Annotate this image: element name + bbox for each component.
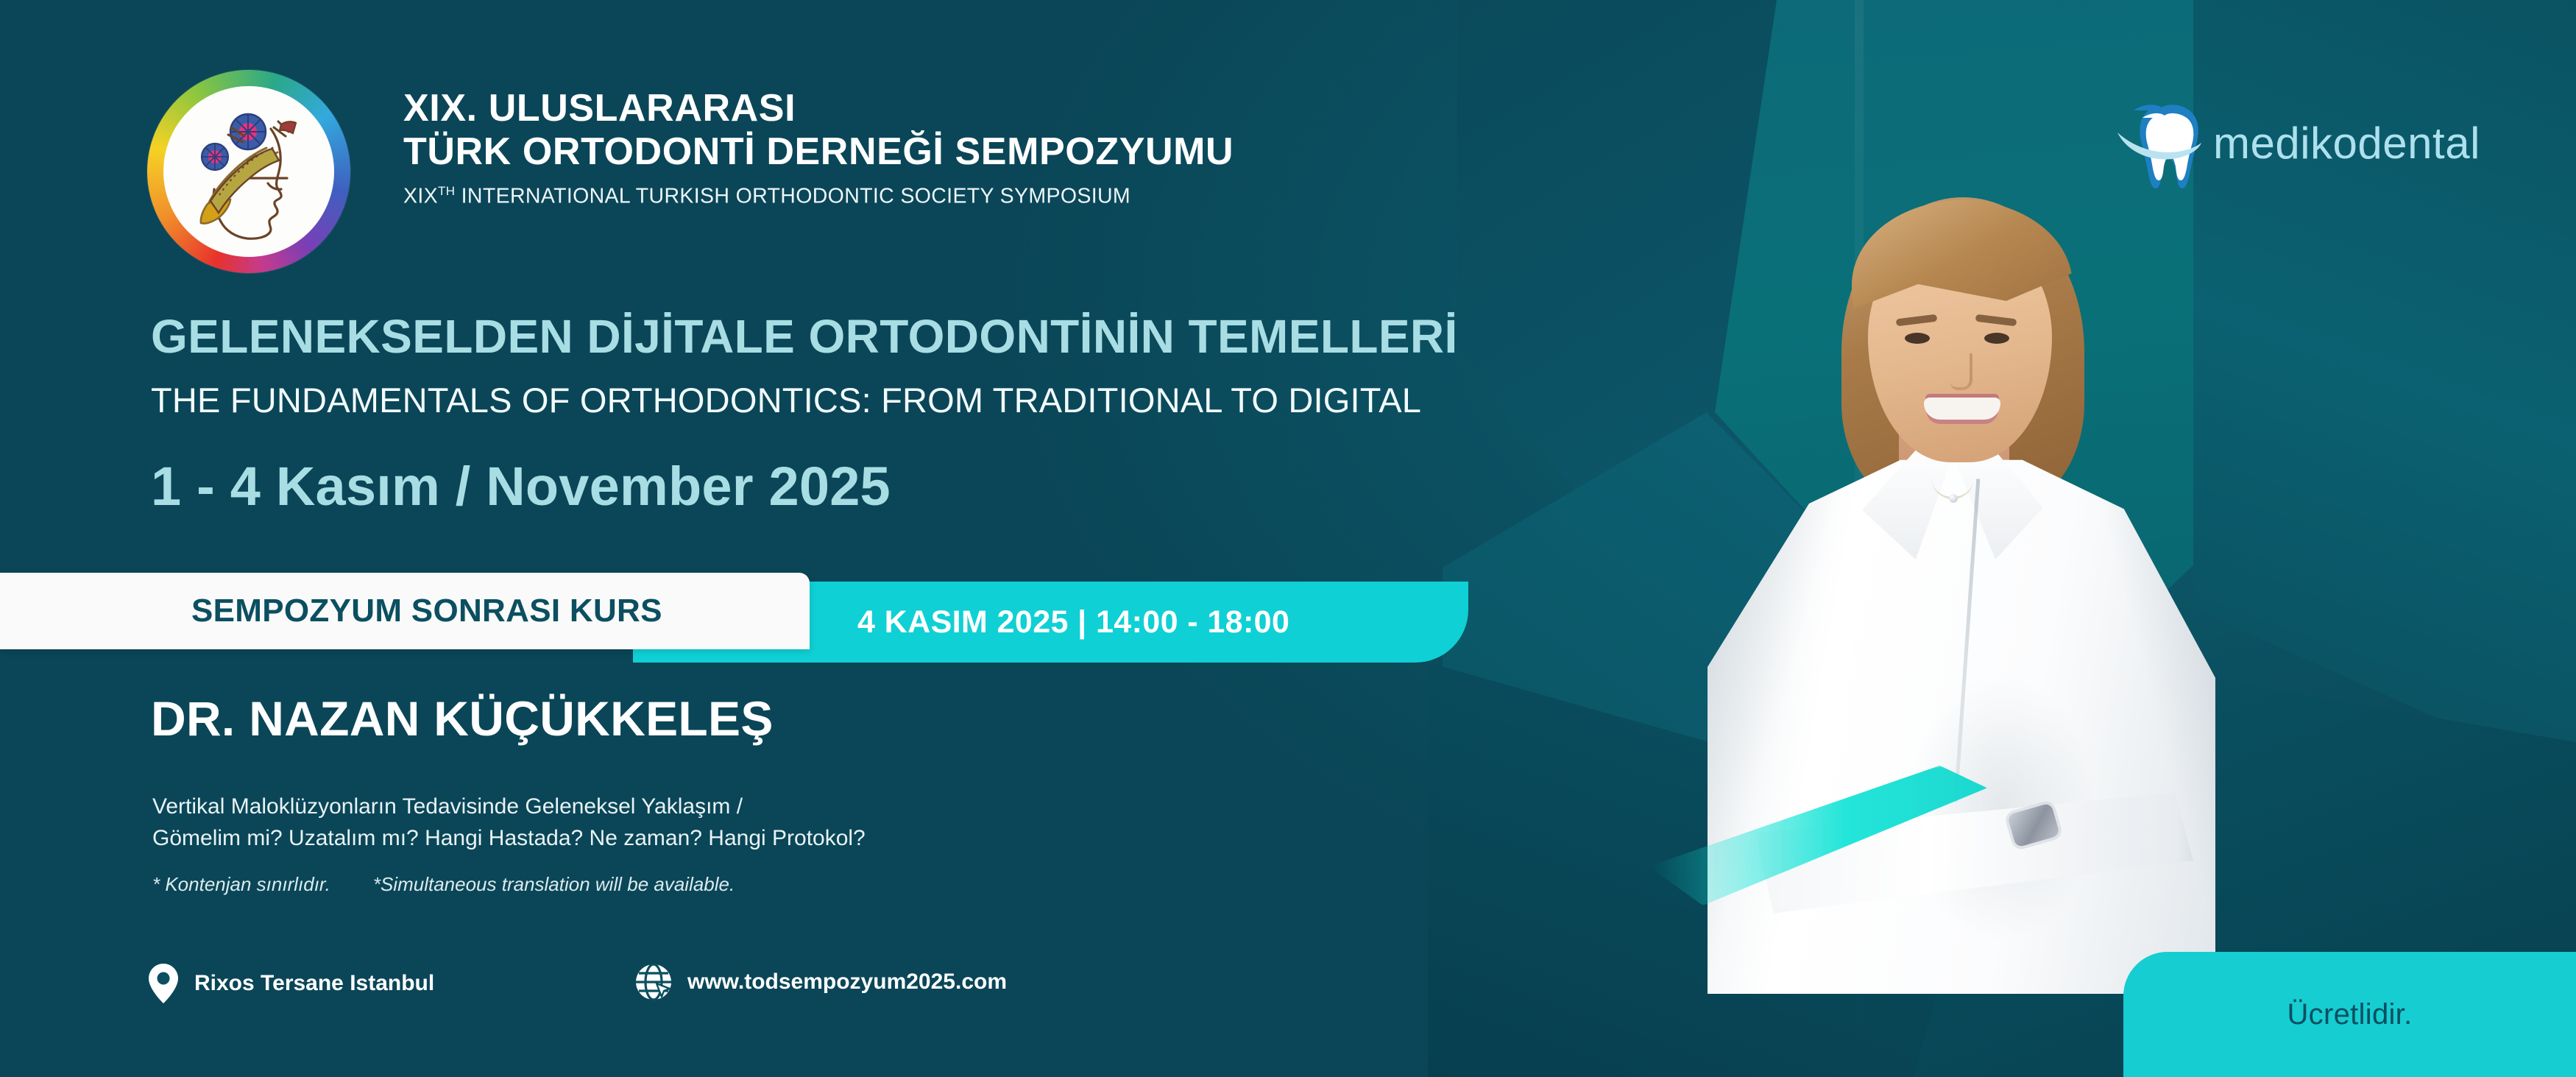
speaker-topic: Vertikal Maloklüzyonların Tedavisinde Ge…: [152, 791, 866, 854]
header-line-2: TÜRK ORTODONTİ DERNEĞİ SEMPOZYUMU: [403, 130, 1691, 174]
note-translation: *Simultaneous translation will be availa…: [373, 873, 735, 895]
speaker-name: DR. NAZAN KÜÇÜKKELEŞ: [151, 691, 774, 746]
portrait-eye-left: [1905, 333, 1930, 344]
header-line-3: XIXTH INTERNATIONAL TURKISH ORTHODONTIC …: [403, 184, 1691, 209]
venue-info: Rixos Tersane Istanbul: [147, 963, 434, 1004]
website-info[interactable]: www.todsempozyum2025.com: [634, 963, 1007, 1001]
venue-name: Rixos Tersane Istanbul: [194, 971, 434, 996]
note-quota-limited: * Kontenjan sınırlıdır.: [152, 873, 330, 895]
location-pin-icon: [147, 963, 180, 1004]
tod-logo: [147, 70, 350, 273]
sponsor-name: medikodental: [2213, 118, 2480, 169]
course-datetime-label: 4 KASIM 2025 | 14:00 - 18:00: [857, 598, 1439, 646]
header-line-3-rest: INTERNATIONAL TURKISH ORTHODONTIC SOCIET…: [455, 184, 1130, 208]
symposium-banner: XIX. ULUSLARARASI TÜRK ORTODONTİ DERNEĞİ…: [0, 0, 2576, 1077]
tod-logo-profile-head-icon: [163, 86, 334, 257]
website-url[interactable]: www.todsempozyum2025.com: [687, 970, 1007, 995]
course-label: SEMPOZYUM SONRASI KURS: [191, 586, 662, 636]
speaker-topic-line-1: Vertikal Maloklüzyonların Tedavisinde Ge…: [152, 791, 866, 823]
sponsor-logo: medikodental: [2116, 94, 2480, 191]
globe-icon: [634, 963, 673, 1001]
header-line-3-prefix: XIX: [403, 184, 438, 208]
event-date-range: 1 - 4 Kasım / November 2025: [151, 455, 891, 518]
speaker-notes: * Kontenjan sınırlıdır.*Simultaneous tra…: [152, 873, 735, 896]
speaker-topic-line-2: Gömelim mi? Uzatalım mı? Hangi Hastada? …: [152, 823, 866, 855]
fee-label: Ücretlidir.: [2287, 998, 2413, 1031]
portrait-nose: [1950, 353, 1972, 390]
main-title-english: THE FUNDAMENTALS OF ORTHODONTICS: FROM T…: [151, 380, 1421, 420]
portrait-eye-right: [1984, 333, 2009, 344]
fee-badge: Ücretlidir.: [2123, 952, 2576, 1077]
header-line-1: XIX. ULUSLARARASI: [403, 87, 1691, 130]
portrait-smile: [1924, 398, 2000, 420]
symposium-header: XIX. ULUSLARARASI TÜRK ORTODONTİ DERNEĞİ…: [403, 87, 1691, 208]
main-title-turkish: GELENEKSELDEN DİJİTALE ORTODONTİNİN TEME…: [151, 309, 1458, 364]
tooth-icon: [2116, 94, 2203, 191]
header-line-3-superscript: TH: [438, 184, 455, 198]
